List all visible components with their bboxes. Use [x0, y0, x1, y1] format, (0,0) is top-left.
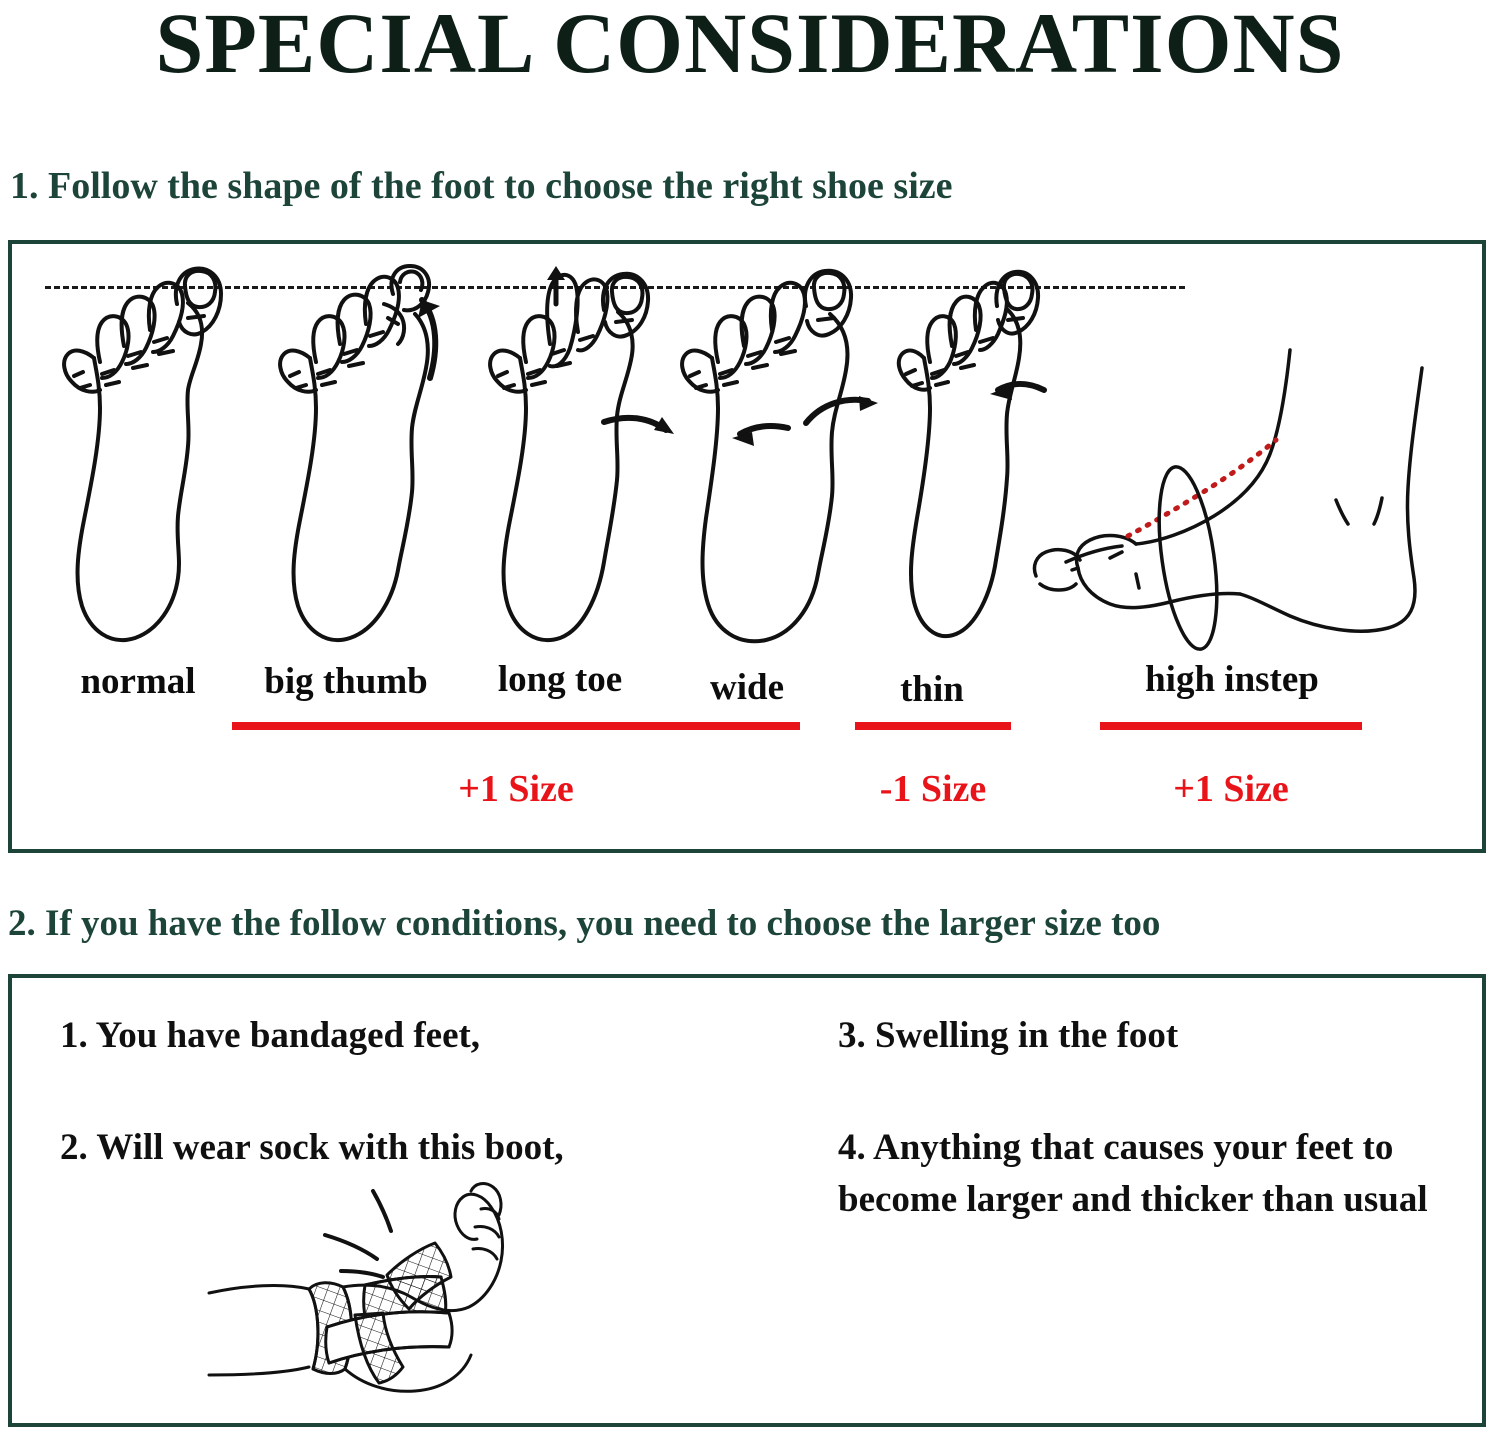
- condition-item: 3. Swelling in the foot: [838, 1010, 1178, 1062]
- wide-foot-left-arrow-icon: [598, 400, 688, 455]
- red-underline-plus-one-group: [232, 722, 800, 730]
- condition-item: 4. Anything that causes your feet to bec…: [838, 1122, 1428, 1226]
- condition-text: Anything that causes your feet to become…: [838, 1127, 1428, 1220]
- foot-sole-wide-icon: [660, 258, 890, 658]
- foot-profile-high-instep-icon: [1018, 336, 1448, 656]
- foot-shape-label-wide: wide: [668, 668, 826, 708]
- condition-text: Will wear sock with this boot,: [96, 1127, 563, 1168]
- foot-shape-label-long-toe: long toe: [470, 660, 650, 700]
- foot-shape-label-normal: normal: [58, 662, 218, 702]
- thin-foot-left-arrow-icon: [800, 385, 890, 440]
- section-2-heading: 2. If you have the follow conditions, yo…: [8, 903, 1160, 945]
- red-underline-high-instep: [1100, 722, 1362, 730]
- foot-shape-label-high-instep: high instep: [1102, 660, 1362, 700]
- size-note-minus-one: -1 Size: [808, 768, 1058, 810]
- size-note-plus-one-group: +1 Size: [386, 768, 646, 810]
- foot-sole-big-thumb-icon: [252, 258, 462, 658]
- condition-text: Swelling in the foot: [875, 1015, 1178, 1056]
- page-title: SPECIAL CONSIDERATIONS: [0, 0, 1500, 88]
- foot-shape-label-big-thumb: big thumb: [232, 662, 460, 702]
- bandaged-foot-icon: [205, 1175, 535, 1425]
- condition-number: 1.: [60, 1010, 88, 1062]
- condition-item: 1. You have bandaged feet,: [60, 1010, 480, 1062]
- condition-text: You have bandaged feet,: [96, 1015, 480, 1056]
- condition-number: 2.: [60, 1122, 88, 1174]
- size-note-high-instep: +1 Size: [1106, 768, 1356, 810]
- section-1-heading: 1. Follow the shape of the foot to choos…: [10, 165, 953, 207]
- condition-number: 4.: [838, 1122, 866, 1174]
- condition-item: 2. Will wear sock with this boot,: [60, 1122, 564, 1174]
- foot-sole-normal-icon: [38, 258, 238, 658]
- condition-number: 3.: [838, 1010, 866, 1062]
- red-underline-thin: [855, 722, 1011, 730]
- foot-sole-long-toe-icon: [466, 258, 671, 658]
- foot-shape-label-thin: thin: [856, 670, 1008, 710]
